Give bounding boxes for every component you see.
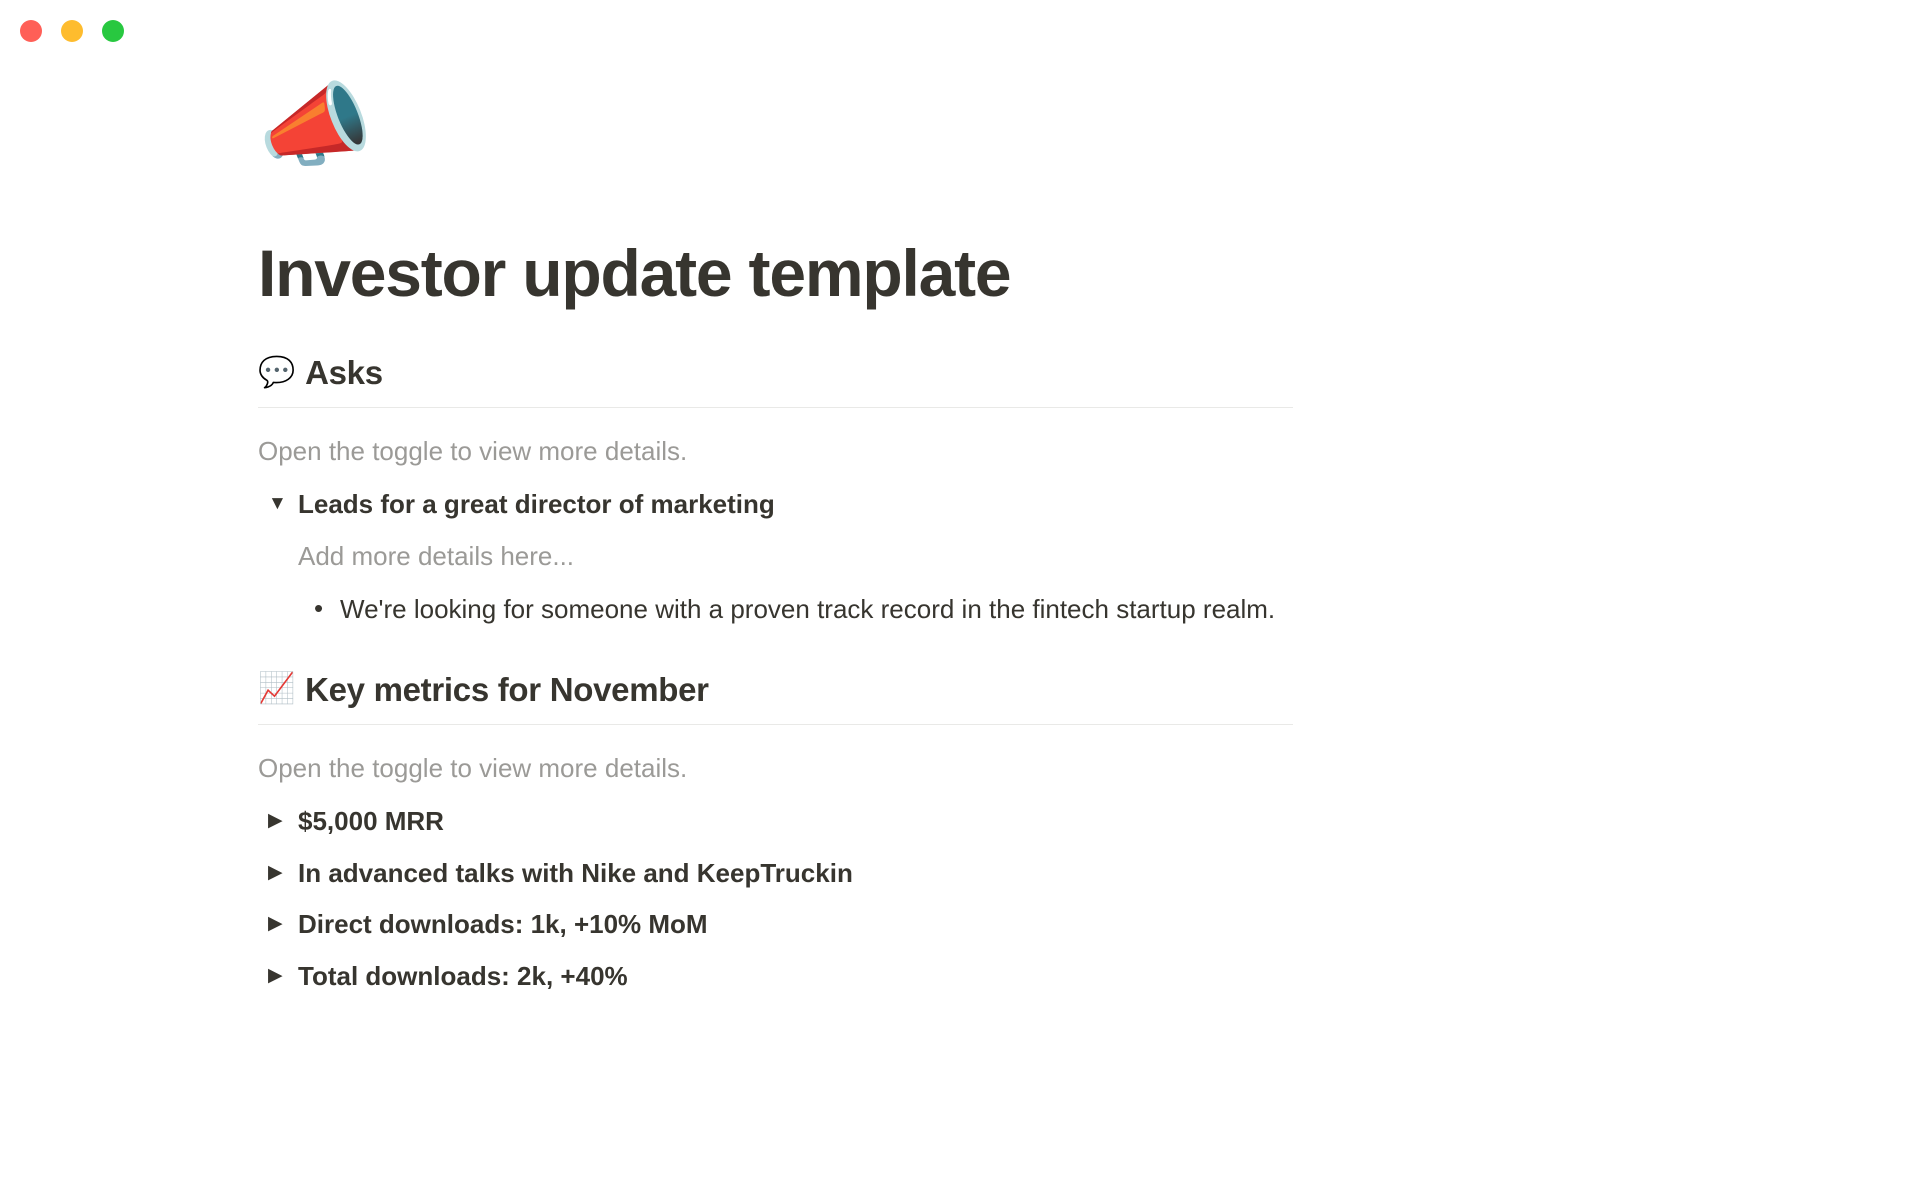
window-controls bbox=[20, 20, 124, 42]
speech-balloon-emoji: 💬 bbox=[258, 358, 295, 388]
toggle-row[interactable]: ▶ Total downloads: 2k, +40% bbox=[258, 955, 1880, 999]
toggle-block: ▼ Leads for a great director of marketin… bbox=[258, 483, 1880, 629]
chart-increasing-emoji: 📈 bbox=[258, 674, 295, 704]
chevron-right-icon[interactable]: ▶ bbox=[258, 803, 298, 835]
document-page: 📣 Investor update template 💬 Asks Open t… bbox=[0, 60, 1920, 1007]
toggle-row[interactable]: ▶ Direct downloads: 1k, +10% MoM bbox=[258, 903, 1880, 947]
toggle-block: ▶ In advanced talks with Nike and KeepTr… bbox=[258, 852, 1880, 896]
section-heading-label: Asks bbox=[305, 352, 383, 393]
section-heading-label: Key metrics for November bbox=[305, 669, 709, 710]
section-heading-key-metrics[interactable]: 📈 Key metrics for November bbox=[258, 669, 1880, 724]
toggle-label: Direct downloads: 1k, +10% MoM bbox=[298, 906, 708, 944]
toggle-block: ▶ $5,000 MRR bbox=[258, 800, 1880, 844]
chevron-right-icon[interactable]: ▶ bbox=[258, 958, 298, 990]
window-titlebar bbox=[0, 0, 1920, 60]
toggle-row[interactable]: ▼ Leads for a great director of marketin… bbox=[258, 483, 1880, 527]
minimize-button[interactable] bbox=[61, 20, 83, 42]
section-key-metrics: 📈 Key metrics for November Open the togg… bbox=[258, 669, 1880, 999]
section-heading-asks[interactable]: 💬 Asks bbox=[258, 352, 1880, 407]
section-divider bbox=[258, 724, 1293, 725]
app-window: 📣 Investor update template 💬 Asks Open t… bbox=[0, 0, 1920, 1200]
chevron-right-icon[interactable]: ▶ bbox=[258, 906, 298, 938]
maximize-button[interactable] bbox=[102, 20, 124, 42]
toggle-row[interactable]: ▶ In advanced talks with Nike and KeepTr… bbox=[258, 852, 1880, 896]
toggle-block: ▶ Total downloads: 2k, +40% bbox=[258, 955, 1880, 999]
section-hint: Open the toggle to view more details. bbox=[258, 432, 1880, 471]
toggle-label: Total downloads: 2k, +40% bbox=[298, 958, 628, 996]
page-title[interactable]: Investor update template bbox=[258, 198, 1880, 312]
list-item[interactable]: We're looking for someone with a proven … bbox=[298, 590, 1880, 629]
toggle-children: Add more details here... We're looking f… bbox=[258, 537, 1880, 629]
toggle-label: In advanced talks with Nike and KeepTruc… bbox=[298, 855, 853, 893]
toggle-block: ▶ Direct downloads: 1k, +10% MoM bbox=[258, 903, 1880, 947]
toggle-row[interactable]: ▶ $5,000 MRR bbox=[258, 800, 1880, 844]
toggle-label: $5,000 MRR bbox=[298, 803, 444, 841]
megaphone-emoji[interactable]: 📣 bbox=[258, 80, 1880, 198]
section-divider bbox=[258, 407, 1293, 408]
toggle-child-hint[interactable]: Add more details here... bbox=[298, 537, 1880, 576]
section-hint: Open the toggle to view more details. bbox=[258, 749, 1880, 788]
close-button[interactable] bbox=[20, 20, 42, 42]
chevron-down-icon[interactable]: ▼ bbox=[258, 486, 298, 518]
toggle-label: Leads for a great director of marketing bbox=[298, 486, 775, 524]
chevron-right-icon[interactable]: ▶ bbox=[258, 855, 298, 887]
section-asks: 💬 Asks Open the toggle to view more deta… bbox=[258, 352, 1880, 629]
bulleted-list: We're looking for someone with a proven … bbox=[298, 590, 1880, 629]
